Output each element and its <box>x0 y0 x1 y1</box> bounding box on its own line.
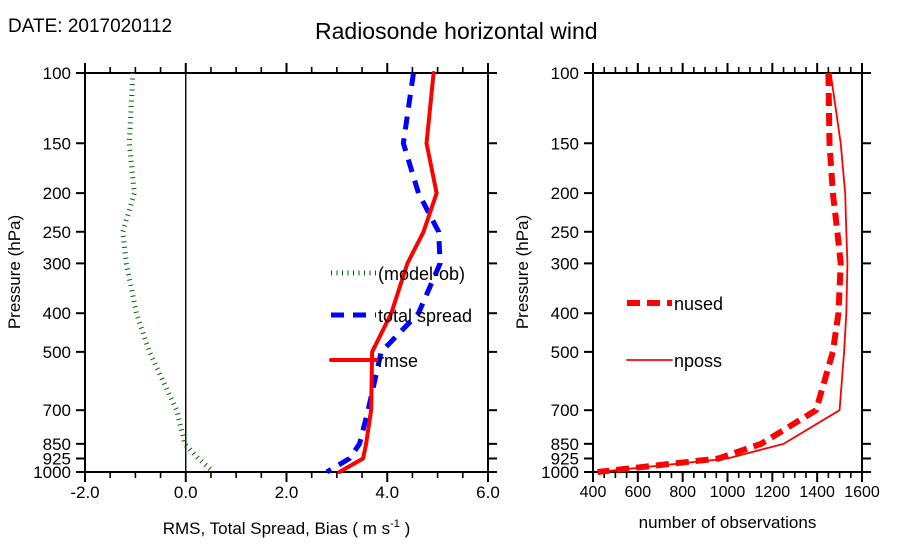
left-panel-ytick-label: 150 <box>43 134 71 153</box>
right-panel-xtick-label: 400 <box>580 484 607 501</box>
left-panel-xtick-label: 6.0 <box>476 483 500 502</box>
chart-canvas: 1001502002503004005007008509251000-2.00.… <box>0 0 900 560</box>
left-series-modelob <box>123 73 214 472</box>
left-panel-xlabel: RMS, Total Spread, Bias ( m s-1 ) <box>163 518 411 538</box>
left-legend-label-0: (model-ob) <box>378 264 465 284</box>
left-panel-ytick-label: 200 <box>43 184 71 203</box>
left-panel-ytick-label: 700 <box>43 401 71 420</box>
right-series-nused <box>597 73 840 472</box>
left-panel-xtick-label: -2.0 <box>70 483 99 502</box>
right-panel-ytick-label: 500 <box>551 343 579 362</box>
left-panel-ytick-label: 400 <box>43 304 71 323</box>
right-legend-label-1: nposs <box>674 351 722 371</box>
right-panel-series <box>597 73 847 472</box>
right-legend-label-0: nused <box>674 294 723 314</box>
left-panel-xtick-label: 0.0 <box>174 483 198 502</box>
right-panel-xtick-label: 1200 <box>755 484 791 501</box>
right-panel-xtick-label: 1400 <box>799 484 835 501</box>
left-panel-ytick-label: 250 <box>43 223 71 242</box>
right-panel-ytick-label: 150 <box>551 134 579 153</box>
xlabel-part-sup: -1 <box>390 518 400 530</box>
left-legend-label-2: rmse <box>378 351 418 371</box>
right-panel-frame <box>593 73 862 472</box>
right-panel-yaxis: 1001502002503004005007008509251000 <box>541 64 871 482</box>
right-panel-xtick-label: 600 <box>624 484 651 501</box>
left-panel-legend: (model-ob)total spreadrmse <box>331 264 472 371</box>
left-panel-xtick-label: 2.0 <box>275 483 299 502</box>
left-panel-ytick-label: 1000 <box>33 463 71 482</box>
left-panel-ytick-label: 100 <box>43 64 71 83</box>
right-panel-ytick-label: 400 <box>551 304 579 323</box>
left-panel-ytick-label: 300 <box>43 254 71 273</box>
left-panel-xtick-label: 4.0 <box>375 483 399 502</box>
xlabel-part-pre: RMS, Total Spread, Bias ( m s <box>163 519 390 538</box>
right-panel-xtick-label: 1000 <box>710 484 746 501</box>
right-panel-xtick-label: 1600 <box>844 484 880 501</box>
right-panel-ytick-label: 700 <box>551 401 579 420</box>
right-panel-ytick-label: 300 <box>551 254 579 273</box>
right-panel-ylabel: Pressure (hPa) <box>513 215 532 329</box>
right-panel-xlabel: number of observations <box>639 513 817 532</box>
right-panel-ytick-label: 100 <box>551 64 579 83</box>
left-legend-label-1: total spread <box>378 306 472 326</box>
left-panel-ylabel: Pressure (hPa) <box>5 215 24 329</box>
xlabel-part-post: ) <box>400 519 410 538</box>
right-panel-ytick-label: 200 <box>551 184 579 203</box>
right-panel-ytick-label: 250 <box>551 223 579 242</box>
left-panel-ytick-label: 500 <box>43 343 71 362</box>
right-panel-xtick-label: 800 <box>669 484 696 501</box>
right-panel-xaxis: 4006008001000120014001600 <box>580 63 880 501</box>
right-panel-ytick-label: 1000 <box>541 463 579 482</box>
right-panel-legend: nusednposs <box>627 294 723 371</box>
